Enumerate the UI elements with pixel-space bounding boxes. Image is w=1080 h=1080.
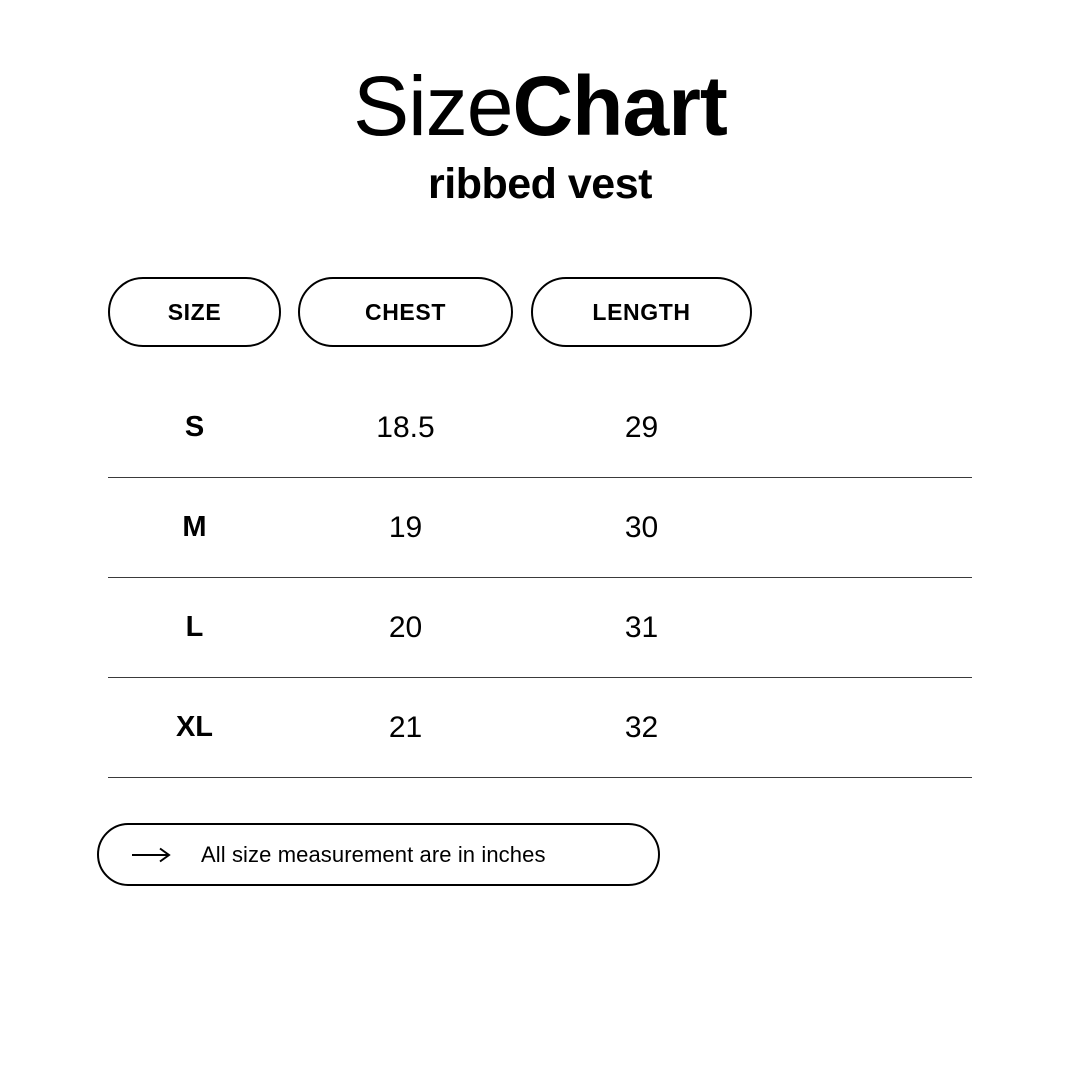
cell-chest-value: 21 xyxy=(389,711,422,745)
column-header-length[interactable]: LENGTH xyxy=(531,277,752,347)
column-header-size[interactable]: SIZE xyxy=(108,277,281,347)
page-title-bold: Chart xyxy=(513,59,727,153)
cell-length-value: 30 xyxy=(625,511,658,545)
column-header-chest[interactable]: CHEST xyxy=(298,277,513,347)
size-table: SIZE CHEST LENGTH S 18.5 29 xyxy=(108,277,972,778)
page-title-light: Size xyxy=(353,59,512,153)
cell-chest-value: 19 xyxy=(389,511,422,545)
page-subtitle: ribbed vest xyxy=(0,158,1080,210)
cell-size: L xyxy=(108,578,281,677)
cell-length: 30 xyxy=(531,478,752,577)
table-header-row: SIZE CHEST LENGTH xyxy=(108,277,972,347)
cell-length-value: 29 xyxy=(625,411,658,445)
cell-size: M xyxy=(108,478,281,577)
cell-size: S xyxy=(108,378,281,477)
column-header-chest-label: CHEST xyxy=(365,299,446,326)
table-row: L 20 31 xyxy=(108,578,972,678)
cell-chest: 21 xyxy=(298,678,513,777)
column-header-size-label: SIZE xyxy=(168,299,222,326)
size-chart-canvas: SizeChart ribbed vest SIZE CHEST LENGTH … xyxy=(0,0,1080,1080)
title-block: SizeChart ribbed vest xyxy=(0,58,1080,210)
measurement-note-text: All size measurement are in inches xyxy=(201,842,546,868)
cell-length: 29 xyxy=(531,378,752,477)
cell-chest: 20 xyxy=(298,578,513,677)
cell-chest-value: 20 xyxy=(389,611,422,645)
cell-length: 31 xyxy=(531,578,752,677)
cell-size-value: M xyxy=(182,511,206,544)
column-header-length-label: LENGTH xyxy=(592,299,690,326)
table-row: M 19 30 xyxy=(108,478,972,578)
cell-length: 32 xyxy=(531,678,752,777)
cell-chest-value: 18.5 xyxy=(376,411,434,445)
table-body: S 18.5 29 M 19 30 xyxy=(108,378,972,778)
table-row: XL 21 32 xyxy=(108,678,972,778)
cell-length-value: 32 xyxy=(625,711,658,745)
table-row: S 18.5 29 xyxy=(108,378,972,478)
arrow-right-icon xyxy=(132,845,172,865)
measurement-note: All size measurement are in inches xyxy=(97,823,660,886)
cell-size-value: L xyxy=(186,611,204,644)
page-title: SizeChart xyxy=(0,58,1080,154)
cell-chest: 18.5 xyxy=(298,378,513,477)
cell-size-value: S xyxy=(185,411,204,444)
cell-size: XL xyxy=(108,678,281,777)
cell-chest: 19 xyxy=(298,478,513,577)
cell-length-value: 31 xyxy=(625,611,658,645)
cell-size-value: XL xyxy=(176,711,213,744)
